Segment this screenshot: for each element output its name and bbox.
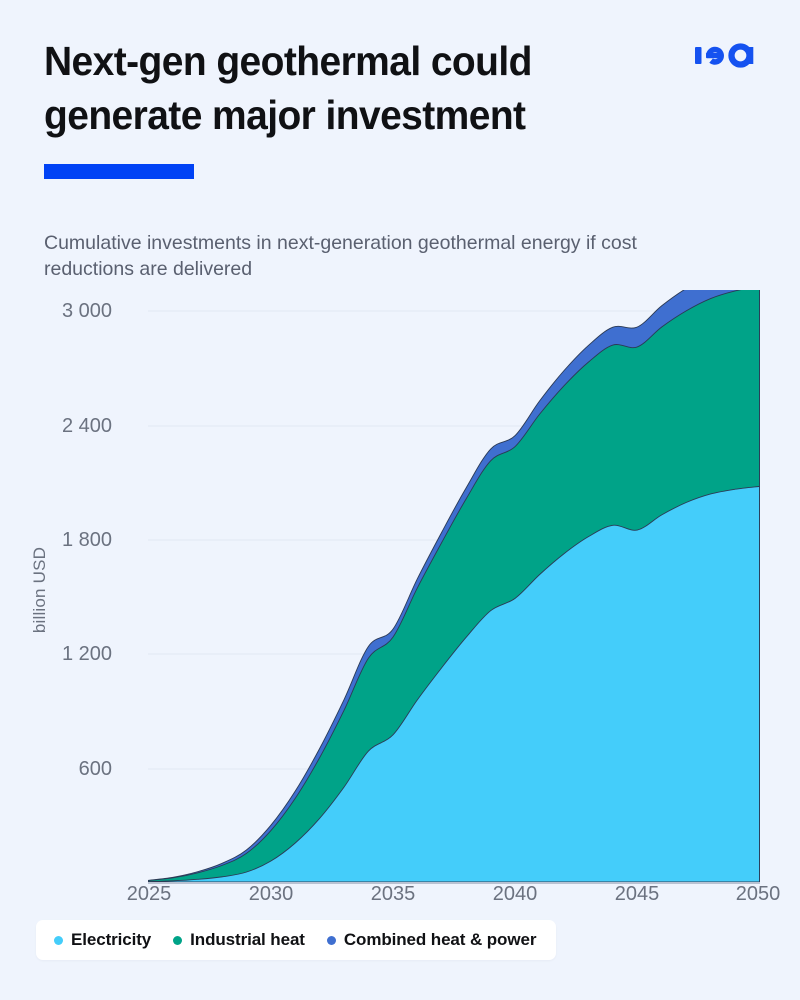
legend-dot-icon: [54, 936, 63, 945]
y-tick-2400: 2 400: [0, 416, 112, 436]
chart-container: billion USD 3 000 2 400 1 800 1 200 600: [0, 290, 800, 910]
legend-item-combined-heat-power[interactable]: Combined heat & power: [327, 930, 536, 950]
x-tick-2035: 2035: [348, 884, 438, 904]
y-tick-600: 600: [0, 759, 112, 779]
iea-logo: [695, 40, 757, 72]
legend-label: Industrial heat: [190, 930, 305, 950]
x-tick-2045: 2045: [592, 884, 682, 904]
plot-area: [148, 290, 760, 883]
stacked-area-svg: [148, 290, 760, 883]
header: Next-gen geothermal could generate major…: [0, 0, 800, 200]
legend-label: Combined heat & power: [344, 930, 536, 950]
legend-dot-icon: [173, 936, 182, 945]
page-title: Next-gen geothermal could generate major…: [44, 34, 652, 142]
chart-legend: Electricity Industrial heat Combined hea…: [36, 920, 556, 960]
y-tick-1800: 1 800: [0, 530, 112, 550]
legend-item-industrial-heat[interactable]: Industrial heat: [173, 930, 305, 950]
title-accent-bar: [44, 164, 194, 179]
legend-label: Electricity: [71, 930, 151, 950]
y-tick-1200: 1 200: [0, 644, 112, 664]
x-tick-2025: 2025: [104, 884, 194, 904]
legend-item-electricity[interactable]: Electricity: [54, 930, 151, 950]
x-tick-2040: 2040: [470, 884, 560, 904]
x-tick-2030: 2030: [226, 884, 316, 904]
area-series-group: [149, 290, 760, 882]
x-tick-2050: 2050: [713, 884, 800, 904]
chart-subtitle: Cumulative investments in next-generatio…: [44, 230, 716, 282]
legend-dot-icon: [327, 936, 336, 945]
y-tick-3000: 3 000: [0, 301, 112, 321]
